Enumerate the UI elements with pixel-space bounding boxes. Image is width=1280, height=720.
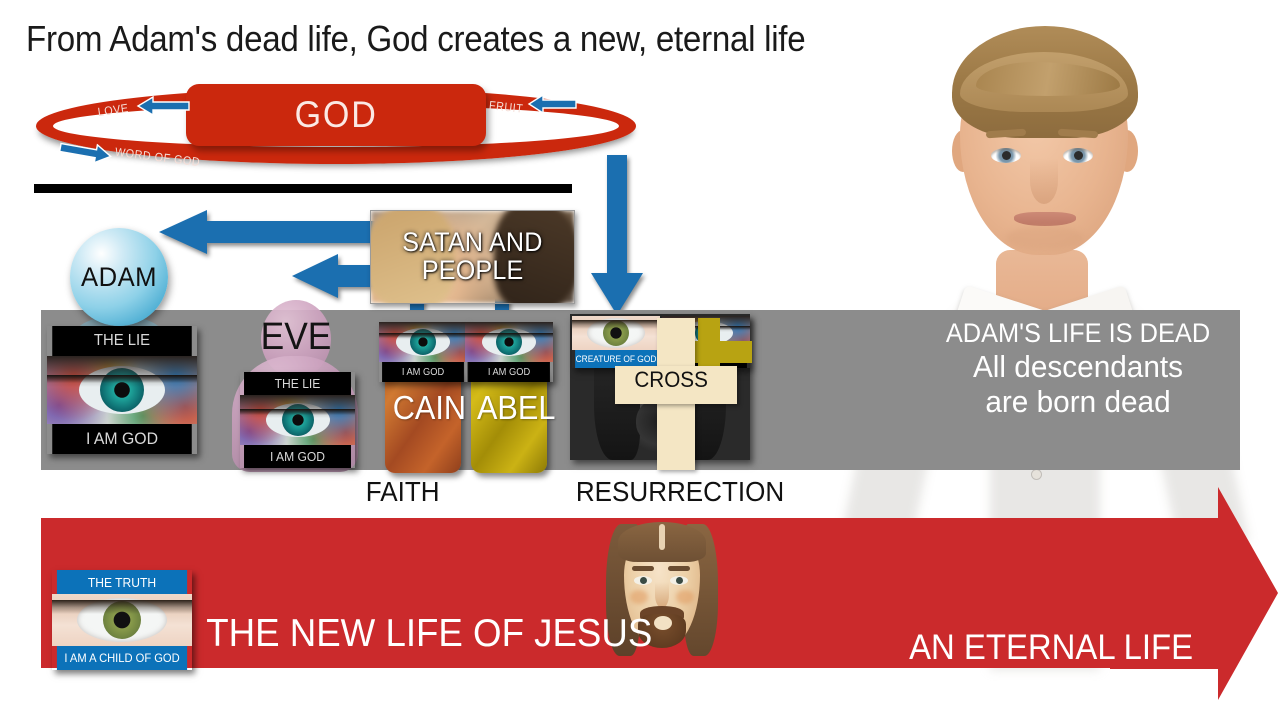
banner-label-eternal-life: AN ETERNAL LIFE xyxy=(909,628,1193,668)
satan-label-line2: PEOPLE xyxy=(422,257,524,285)
eye-lashes xyxy=(52,600,192,614)
stage-label-resurrection: RESURRECTION xyxy=(576,476,784,508)
eye-card-truth: THE TRUTH I AM A CHILD OF GOD xyxy=(52,570,192,670)
jesus-cheek-right xyxy=(676,590,694,604)
overlay-line-2: All descendants xyxy=(888,350,1268,385)
overlay-line-1: ADAM'S LIFE IS DEAD xyxy=(892,318,1264,348)
fruit-arrow-icon xyxy=(526,94,578,114)
shirt-button xyxy=(1032,470,1041,479)
love-arrow-icon xyxy=(135,96,191,116)
abel-label: ABEL xyxy=(477,389,555,427)
cain-label: CAIN xyxy=(393,389,466,427)
adam-label: ADAM xyxy=(81,262,157,293)
eye-card-caption-bottom: I AM GOD xyxy=(468,362,550,382)
jesus-chin xyxy=(654,616,672,630)
pupil-right xyxy=(1074,151,1083,160)
eye-lashes xyxy=(47,375,197,383)
eye-card-caption-bottom: I AM GOD xyxy=(52,424,192,454)
jesus-eyebrow-left xyxy=(632,566,654,571)
eye-card-abel: I AM GOD xyxy=(465,322,553,382)
eye-card-caption-bottom: I AM GOD xyxy=(244,445,351,468)
banner-label-new-life: THE NEW LIFE OF JESUS xyxy=(206,612,652,656)
black-divider-bar xyxy=(34,184,572,193)
jesus-eyebrow-right xyxy=(668,566,690,571)
eye-image-natural xyxy=(572,316,660,350)
pupil-left xyxy=(1002,151,1011,160)
slide-canvas: From Adam's dead life, God creates a new… xyxy=(0,0,1280,720)
eye-lashes xyxy=(465,333,553,338)
eye-image-colorful xyxy=(47,356,197,424)
jesus-nose xyxy=(655,582,669,608)
overlay-line-3: are born dead xyxy=(888,385,1268,420)
stage-label-faith: FAITH xyxy=(366,476,440,508)
eye-card-cain: I AM GOD xyxy=(379,322,467,382)
eye-lashes xyxy=(572,320,660,329)
slide-title: From Adam's dead life, God creates a new… xyxy=(26,18,805,60)
eye-card-caption-top: THE TRUTH xyxy=(57,570,187,594)
arrow-satan-to-adam-upper xyxy=(155,208,385,256)
right-overlay-text: ADAM'S LIFE IS DEAD All descendants are … xyxy=(880,318,1276,420)
eye-image-colorful xyxy=(240,395,355,445)
jesus-cheek-left xyxy=(630,590,648,604)
eye-card-creature-of-god: CREATURE OF GOD xyxy=(572,316,660,368)
arrow-god-to-cross xyxy=(587,155,647,317)
eye-image-colorful xyxy=(465,322,553,362)
cross-label: CROSS xyxy=(634,367,708,393)
god-label: GOD xyxy=(294,94,377,136)
jesus-pupil-right xyxy=(676,577,683,584)
eye-card-adam-lie: THE LIE I AM GOD xyxy=(47,326,197,454)
eye-image-natural xyxy=(52,594,192,646)
adam-sphere: ADAM xyxy=(70,228,168,326)
nose xyxy=(1030,158,1058,204)
eye-image-colorful xyxy=(379,322,467,362)
eve-label: EVE xyxy=(261,316,332,359)
satan-and-people-box: SATAN AND PEOPLE xyxy=(370,210,575,304)
eye-card-caption-bottom: I AM GOD xyxy=(382,362,464,382)
satan-and-people-text: SATAN AND PEOPLE xyxy=(371,211,574,303)
red-arrow-head xyxy=(1110,487,1280,705)
mouth xyxy=(1014,212,1076,226)
jesus-hair-part xyxy=(659,524,665,550)
eye-card-caption-top: THE LIE xyxy=(244,372,351,395)
satan-label-line1: SATAN AND xyxy=(402,229,542,257)
eye-card-caption-bottom: I AM A CHILD OF GOD xyxy=(57,646,187,670)
eye-card-eve-lie: THE LIE I AM GOD xyxy=(240,372,355,468)
god-box: GOD xyxy=(186,84,486,146)
eye-lashes xyxy=(379,333,467,338)
eye-card-caption-top: THE LIE xyxy=(52,326,192,356)
chin xyxy=(1006,226,1084,250)
eye-lashes xyxy=(240,409,355,415)
jesus-pupil-left xyxy=(640,577,647,584)
